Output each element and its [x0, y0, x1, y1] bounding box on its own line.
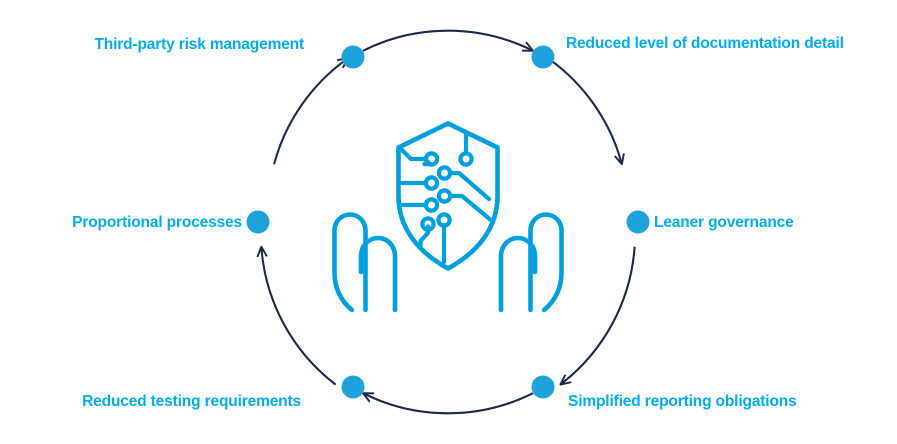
left-hand-icon — [335, 215, 396, 311]
arc-segment-4 — [364, 394, 532, 414]
node-label-reduced-testing-requirements[interactable]: Reduced testing requirements — [82, 394, 301, 410]
arc-segment-1 — [364, 31, 532, 51]
node-label-reduced-documentation-detail[interactable]: Reduced level of documentation detail — [566, 36, 844, 52]
node-dot-simplified-reporting-obligations[interactable] — [532, 376, 555, 399]
shield-circuit-nodes-icon — [422, 153, 471, 229]
right-hand-icon — [501, 215, 562, 311]
node-dot-third-party-risk-management[interactable] — [342, 46, 365, 69]
node-dot-proportional-processes[interactable] — [247, 211, 270, 234]
node-label-third-party-risk-management[interactable]: Third-party risk management — [94, 37, 304, 53]
node-label-simplified-reporting-obligations[interactable]: Simplified reporting obligations — [568, 394, 797, 410]
arc-segment-5 — [261, 248, 335, 384]
diagram-canvas: Reduced level of documentation detail Le… — [0, 0, 897, 444]
node-dot-reduced-documentation-detail[interactable] — [532, 46, 555, 69]
arc-segment-2 — [549, 59, 622, 164]
shield-hands-icon — [335, 124, 562, 311]
node-dot-leaner-governance[interactable] — [627, 211, 650, 234]
arc-segment-3 — [561, 248, 635, 384]
node-dot-reduced-testing-requirements[interactable] — [342, 376, 365, 399]
node-label-proportional-processes[interactable]: Proportional processes — [72, 215, 242, 231]
node-label-leaner-governance[interactable]: Leaner governance — [654, 215, 794, 231]
arc-segment-6 — [274, 59, 347, 164]
